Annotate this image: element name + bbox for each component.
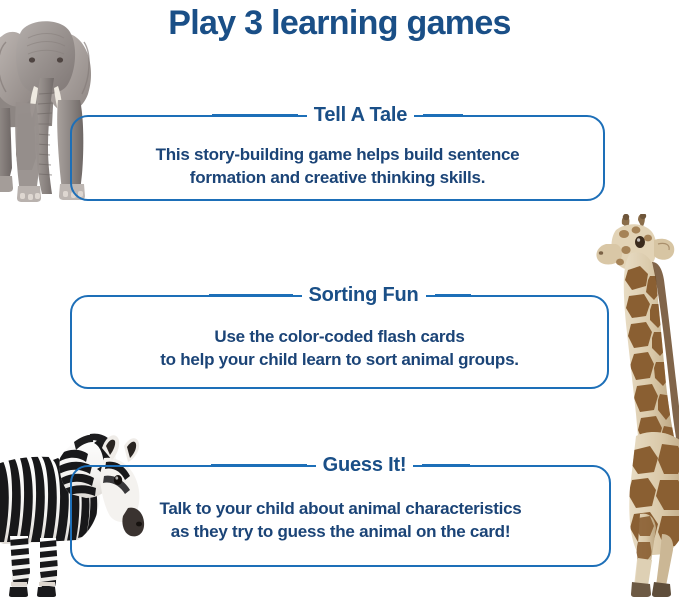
card-legend-sorting-fun: Sorting Fun xyxy=(72,283,607,307)
legend-rule-right xyxy=(435,294,471,296)
legend-rule-left xyxy=(211,464,307,466)
card-body-tell-a-tale: This story-building game helps build sen… xyxy=(72,143,603,189)
card-body-line-2: formation and creative thinking skills. xyxy=(82,166,593,189)
legend-rule-right xyxy=(422,464,470,466)
card-guess-it: Guess It! Talk to your child about anima… xyxy=(70,465,611,567)
legend-rule-right xyxy=(423,114,463,116)
card-sorting-fun: Sorting Fun Use the color-coded flash ca… xyxy=(70,295,609,389)
card-body-line-1: Use the color-coded flash cards xyxy=(82,325,597,348)
infographic-panel: Play 3 learning games xyxy=(0,0,679,597)
card-body-sorting-fun: Use the color-coded flash cards to help … xyxy=(72,325,607,371)
card-body-line-1: Talk to your child about animal characte… xyxy=(82,497,599,520)
card-title-tell-a-tale: Tell A Tale xyxy=(307,103,414,127)
card-body-line-1: This story-building game helps build sen… xyxy=(82,143,593,166)
card-title-guess-it: Guess It! xyxy=(316,453,414,477)
legend-rule-left xyxy=(212,114,298,116)
card-body-line-2: to help your child learn to sort animal … xyxy=(82,348,597,371)
card-body-guess-it: Talk to your child about animal characte… xyxy=(72,497,609,543)
card-legend-tell-a-tale: Tell A Tale xyxy=(72,103,603,127)
card-title-sorting-fun: Sorting Fun xyxy=(302,283,426,307)
card-tell-a-tale: Tell A Tale This story-building game hel… xyxy=(70,115,605,201)
legend-rule-left xyxy=(209,294,293,296)
card-body-line-2: as they try to guess the animal on the c… xyxy=(82,520,599,543)
card-legend-guess-it: Guess It! xyxy=(72,453,609,477)
